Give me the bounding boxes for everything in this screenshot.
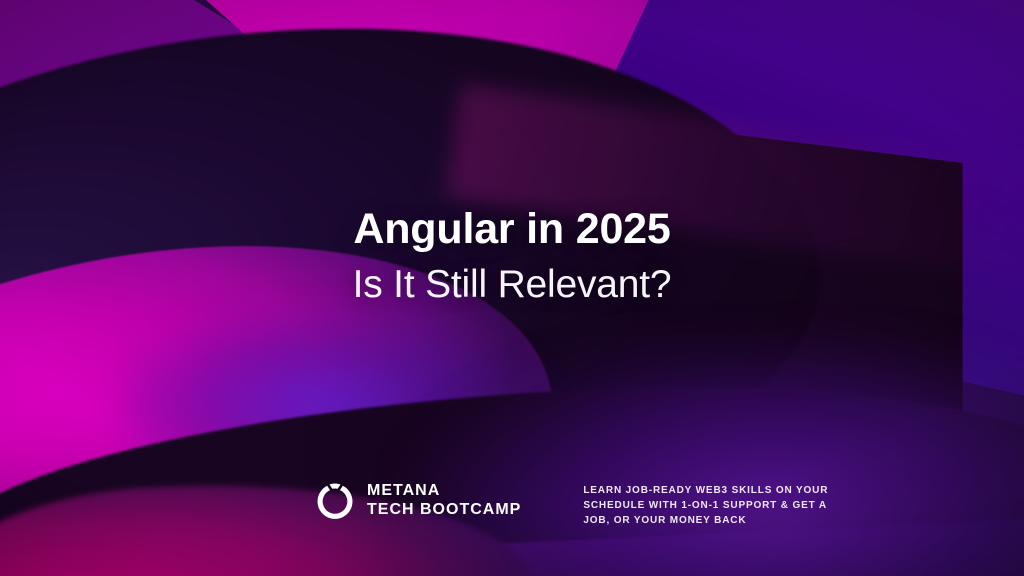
brand-lockup: METANA TECH BOOTCAMP — [316, 476, 521, 520]
cover-image: Angular in 2025 Is It Still Relevant? ME… — [0, 0, 1024, 576]
cover-content: Angular in 2025 Is It Still Relevant? ME… — [0, 0, 1024, 576]
tagline-line-2: SCHEDULE WITH 1-ON-1 SUPPORT & GET A — [583, 498, 808, 513]
page-subtitle: Is It Still Relevant? — [0, 264, 1024, 307]
page-title: Angular in 2025 — [0, 206, 1024, 252]
brand-name: METANA TECH BOOTCAMP — [367, 482, 521, 520]
brand-name-line-2: TECH BOOTCAMP — [367, 501, 521, 520]
footer-bar: METANA TECH BOOTCAMP LEARN JOB-READY WEB… — [316, 476, 808, 528]
tagline-line-1: LEARN JOB-READY WEB3 SKILLS ON YOUR — [583, 483, 808, 498]
headline-block: Angular in 2025 Is It Still Relevant? — [0, 206, 1024, 307]
metana-ring-icon — [316, 482, 354, 520]
brand-name-line-1: METANA — [367, 482, 521, 501]
tagline: LEARN JOB-READY WEB3 SKILLS ON YOUR SCHE… — [583, 476, 808, 528]
tagline-line-3: JOB, OR YOUR MONEY BACK — [583, 513, 808, 528]
